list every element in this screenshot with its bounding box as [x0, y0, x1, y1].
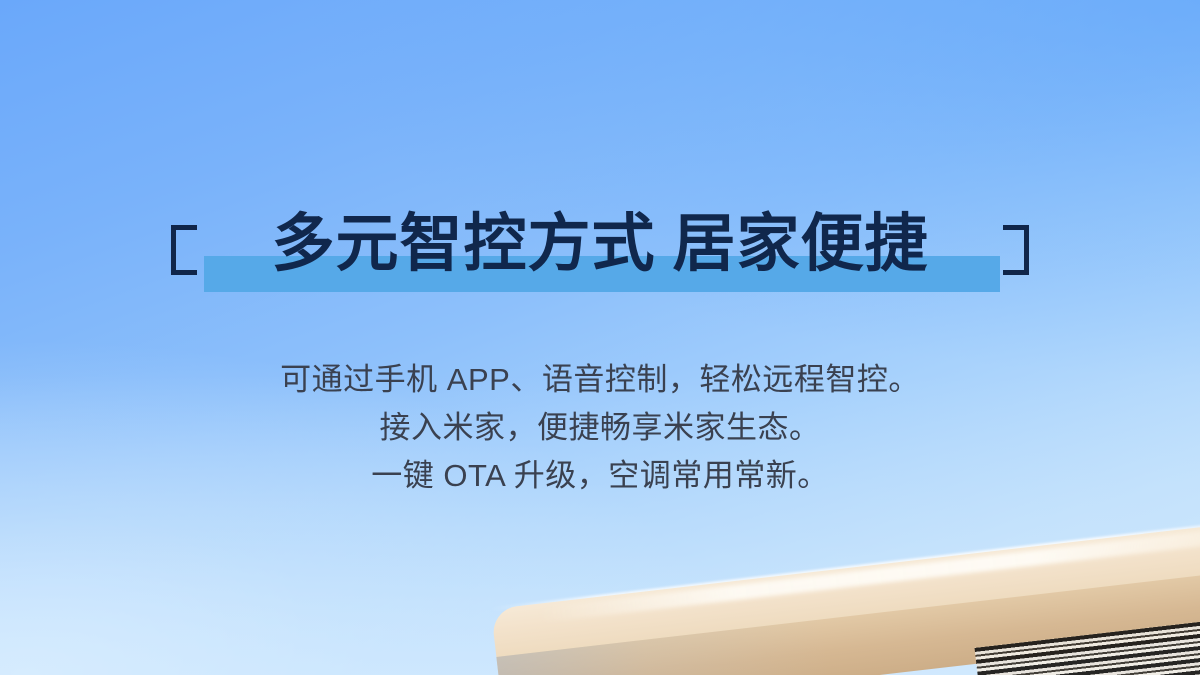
headline-segment-1: 多元智控方式	[272, 209, 656, 279]
body-copy: 可通过手机 APP、语音控制，轻松远程智控。 接入米家，便捷畅享米家生态。 一键…	[0, 356, 1200, 500]
promo-slide: 多元智控方式居家便捷 可通过手机 APP、语音控制，轻松远程智控。 接入米家，便…	[0, 0, 1200, 675]
headline-segment-2: 居家便捷	[673, 209, 929, 279]
body-line-3: 一键 OTA 升级，空调常用常新。	[0, 452, 1200, 500]
body-line-1: 可通过手机 APP、语音控制，轻松远程智控。	[0, 356, 1200, 404]
headline-block: 多元智控方式居家便捷	[0, 196, 1200, 306]
headline-text: 多元智控方式居家便捷	[0, 196, 1200, 292]
body-line-2: 接入米家，便捷畅享米家生态。	[0, 404, 1200, 452]
